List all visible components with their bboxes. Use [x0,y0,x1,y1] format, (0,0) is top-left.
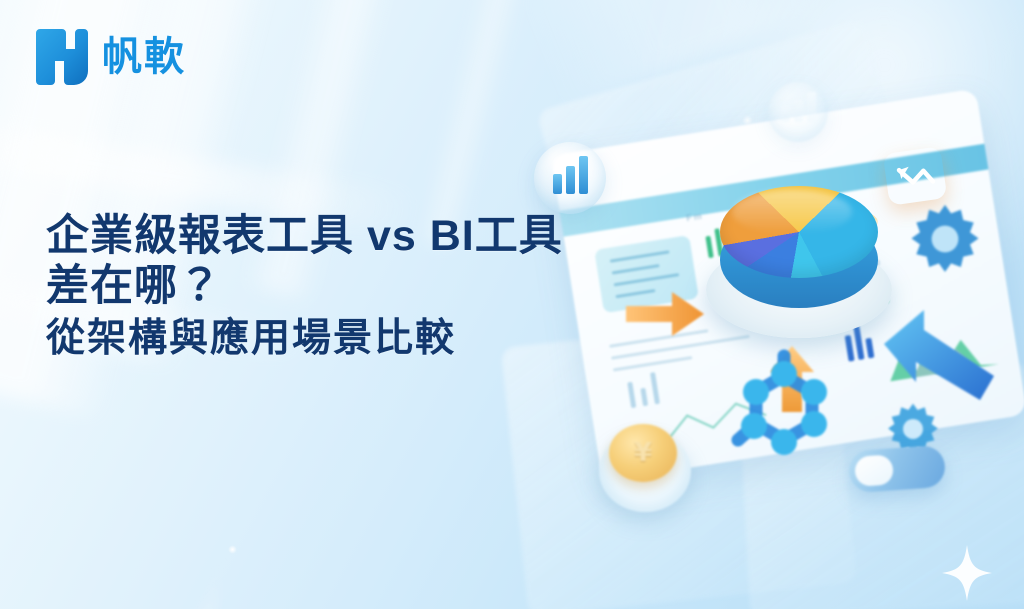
fanruan-logo-mark-icon [34,27,88,87]
mini-donut-chart [707,268,751,304]
bar [566,166,575,194]
bar [579,156,588,194]
mini-bar [714,228,723,256]
light-dot [228,545,237,554]
mini-label: CXJ [719,277,744,291]
mini-bar [881,285,889,304]
mini-bar [865,338,874,359]
trend-arrow-icon [883,146,948,206]
bar-chart-bubble-icon-faded [768,82,828,142]
bottom-left-bubble-arc [0,349,220,609]
sheet-label: VAHOO [839,257,882,274]
pie-chart-side [720,212,878,308]
headline-line-1: 企業級報表工具 vs BI工具 [46,212,706,262]
bar-chart-bubble-icon [534,142,606,214]
mini-bar [705,236,713,259]
mini-bar [861,284,869,307]
banner-root: CXJ VAHOO Fm [0,0,1024,609]
molecule-icon [722,348,852,466]
mini-donut-chart [765,226,804,265]
brand-wordmark: 帆軟 [102,37,186,77]
desk-panel [738,363,1024,609]
arrow-up-icon [766,342,818,418]
pie-chart-pedestal [706,242,892,338]
mini-area-chart [883,317,1009,383]
page-title: 企業級報表工具 vs BI工具 差在哪？ 從架構與應用場景比較 [46,212,706,361]
light-streak [419,0,560,248]
brand-logo[interactable]: 帆軟 [34,27,186,87]
mini-bar [650,372,660,404]
bar [781,106,790,122]
gear-icon [906,200,984,278]
bar [553,174,562,194]
bar [794,100,803,122]
coin-pedestal [599,430,691,512]
mini-line-chart [618,393,774,466]
line-chart-tile-icon [883,146,948,206]
sparkle-icon [940,543,994,603]
gear-icon-small [884,400,942,458]
light-dot [742,115,753,126]
headline-line-2: 差在哪？ [46,262,706,312]
toggle-knob [854,454,894,487]
mini-bar [853,326,864,361]
headline-line-3: 從架構與應用場景比較 [46,316,706,361]
mini-bar [845,335,855,362]
toggle-switch-icon [848,445,947,494]
mini-bar [869,275,879,305]
light-streak [518,0,841,112]
mini-bar [640,388,648,407]
coin-icon: ¥ [609,424,677,482]
mini-bar [627,382,636,408]
bar [807,92,816,122]
pie-chart-3d [720,186,878,278]
arrow-up-left-icon [876,300,1006,410]
pie-chart-gloss [732,190,852,234]
